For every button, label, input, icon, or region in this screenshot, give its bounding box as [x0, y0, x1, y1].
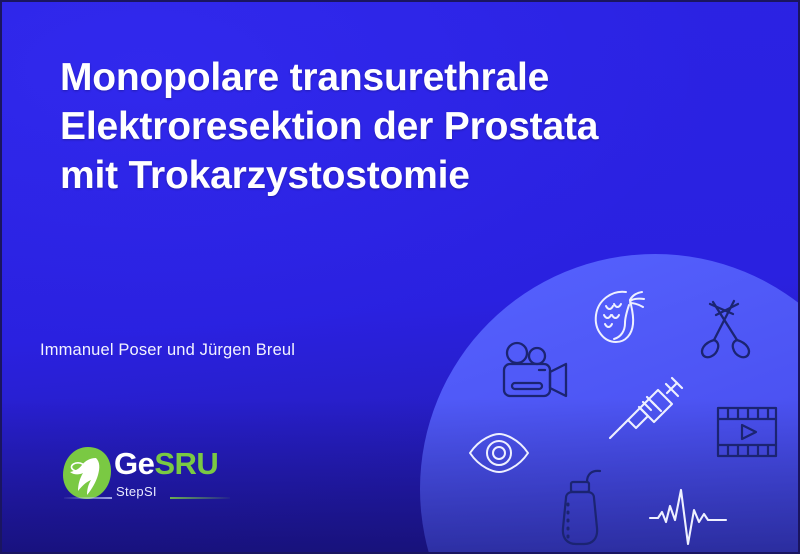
kidney-icon — [586, 284, 658, 352]
presentation-slide: Monopolare transurethrale Elektroresekti… — [0, 0, 800, 554]
video-camera-icon — [500, 340, 578, 402]
logo-rule-right — [170, 497, 230, 499]
logo-wordmark: GeSRU — [114, 448, 218, 479]
surgical-scissors-icon — [694, 298, 760, 362]
logo-rule-left — [64, 497, 112, 499]
slide-title: Monopolare transurethrale Elektroresekti… — [60, 54, 700, 200]
logo-word-accent: SRU — [154, 446, 218, 481]
title-line-2: Elektroresektion der Prostata — [60, 103, 700, 152]
logo-word-primary: Ge — [114, 446, 154, 481]
slide-authors: Immanuel Poser und Jürgen Breul — [40, 341, 295, 360]
logo-subtitle: StepSI — [116, 484, 157, 499]
kidney-figure-logo-mark — [58, 444, 116, 502]
gesru-logo: GeSRU StepSI — [58, 442, 238, 514]
syringe-icon — [606, 374, 686, 452]
heartbeat-ecg-icon — [648, 486, 728, 548]
eye-icon — [468, 432, 530, 474]
wash-bottle-icon — [554, 468, 620, 548]
film-strip-play-icon — [716, 406, 778, 458]
title-line-1: Monopolare transurethrale — [60, 54, 700, 103]
title-line-3: mit Trokarzystostomie — [60, 152, 700, 201]
